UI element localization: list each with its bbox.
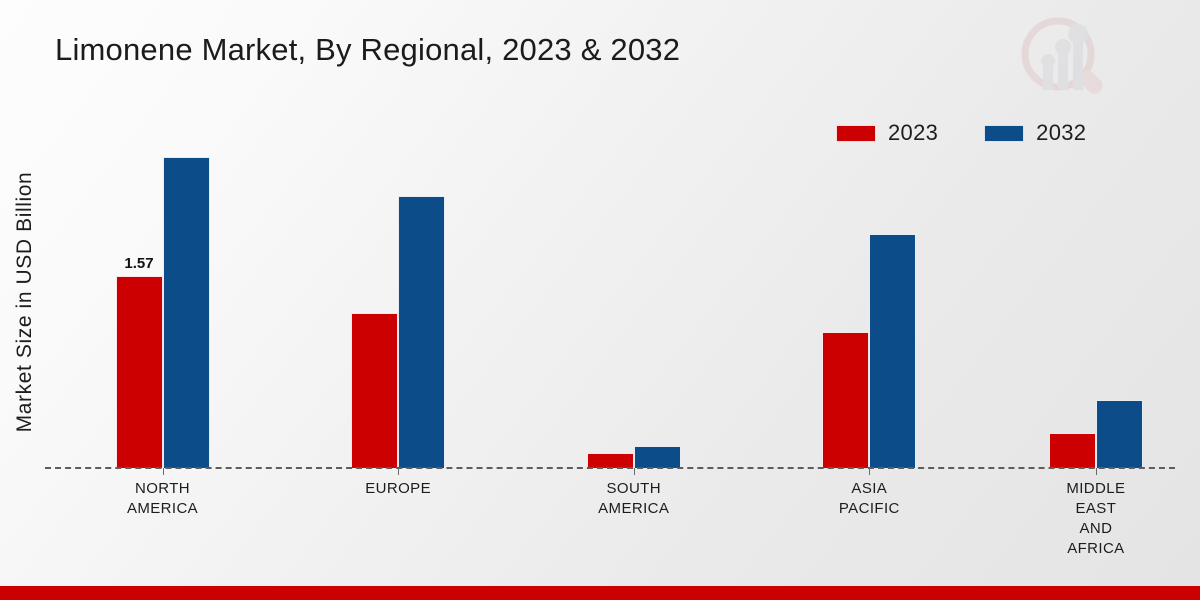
bar-group xyxy=(351,196,445,468)
bar-2023[interactable] xyxy=(351,313,398,468)
bar-2032[interactable] xyxy=(869,234,916,468)
magnifier-bar-chart-logo-icon xyxy=(1010,6,1120,116)
bar-2032[interactable] xyxy=(1096,400,1143,468)
bar-2032[interactable] xyxy=(398,196,445,468)
bar-group xyxy=(587,446,681,468)
footer-accent-bar xyxy=(0,586,1200,600)
x-axis-tick xyxy=(869,468,870,475)
x-axis-tick xyxy=(1096,468,1097,475)
x-axis-label: EUROPE xyxy=(303,479,493,499)
bar-2023[interactable] xyxy=(1049,433,1096,468)
bar-2023[interactable] xyxy=(587,453,634,468)
x-axis-baseline xyxy=(45,467,1175,469)
chart-title: Limonene Market, By Regional, 2023 & 203… xyxy=(55,32,680,68)
legend-label-2023: 2023 xyxy=(888,120,938,146)
legend-swatch-2023 xyxy=(836,125,876,142)
x-axis-tick xyxy=(398,468,399,475)
legend-label-2032: 2032 xyxy=(1036,120,1086,146)
legend-swatch-2032 xyxy=(984,125,1024,142)
x-axis-label: ASIAPACIFIC xyxy=(774,479,964,519)
legend-entry-2023[interactable]: 2023 xyxy=(836,120,938,146)
bar-2023[interactable] xyxy=(822,332,869,468)
legend-entry-2032[interactable]: 2032 xyxy=(984,120,1086,146)
bar-2032[interactable] xyxy=(634,446,681,468)
bar-group: 1.57 xyxy=(116,157,210,468)
x-axis-label: NORTHAMERICA xyxy=(68,479,258,519)
bar-2032[interactable] xyxy=(163,157,210,468)
x-axis-tick xyxy=(634,468,635,475)
chart-legend: 2023 2032 xyxy=(836,120,1086,146)
bar-group xyxy=(1049,400,1143,468)
plot-area: 1.57 xyxy=(45,150,1175,468)
chart-container: Limonene Market, By Regional, 2023 & 203… xyxy=(0,0,1200,600)
x-axis-label: SOUTHAMERICA xyxy=(539,479,729,519)
bar-value-label: 1.57 xyxy=(124,255,153,272)
x-axis-label: MIDDLEEASTANDAFRICA xyxy=(1001,479,1191,559)
y-axis-title: Market Size in USD Billion xyxy=(13,132,37,472)
bar-group xyxy=(822,234,916,468)
bar-2023[interactable] xyxy=(116,276,163,468)
x-axis-tick xyxy=(163,468,164,475)
